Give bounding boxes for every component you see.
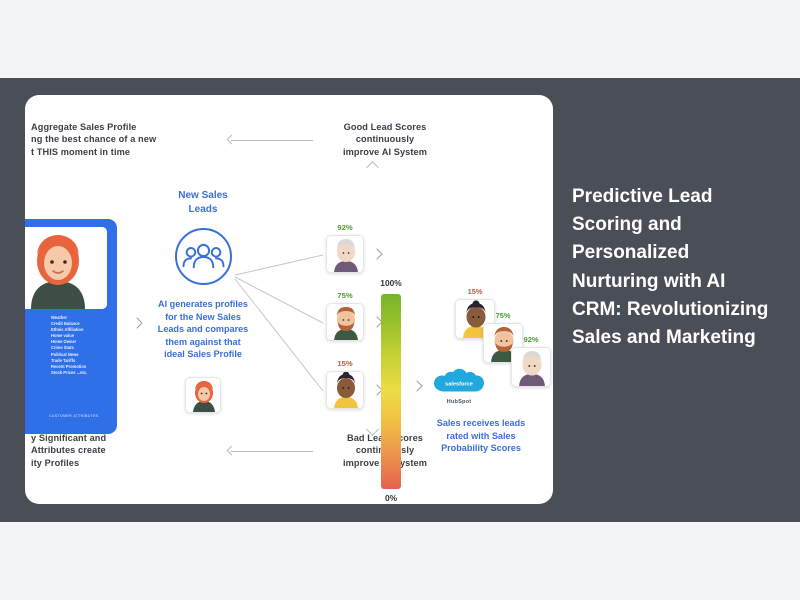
diagram-card: Aggregate Sales Profile ng the best chan… bbox=[25, 95, 553, 504]
new-sales-leads-circle bbox=[175, 228, 232, 285]
crm-score-1: 15% bbox=[458, 287, 492, 296]
caption-bottom-left: y Significant and Attributes create ity … bbox=[31, 432, 231, 469]
lead-connector-lines bbox=[225, 245, 335, 445]
salesforce-cloud-icon: salesforce bbox=[433, 367, 485, 399]
chevron-right-icon-stage3 bbox=[411, 380, 422, 391]
page-root: Aggregate Sales Profile ng the best chan… bbox=[0, 0, 800, 600]
caption-top-left: Aggregate Sales Profile ng the best chan… bbox=[31, 121, 231, 158]
lead-score-3: 15% bbox=[326, 359, 364, 368]
caption-top-right: Returns pro and sales fo Machi bbox=[505, 121, 553, 158]
lead-avatar-1 bbox=[326, 235, 364, 273]
crm-score-2: 75% bbox=[486, 311, 520, 320]
ideal-profile-thumbnail bbox=[185, 377, 221, 413]
lead-avatar-2 bbox=[326, 303, 364, 341]
customer-profile-card: Weather Credit Balance Ethnic Affiliatio… bbox=[25, 219, 117, 434]
persona-avatar bbox=[25, 227, 107, 309]
caret-up-icon bbox=[366, 161, 379, 174]
crm-lead-card-3 bbox=[511, 347, 551, 387]
feedback-arrow-bottom-line bbox=[231, 451, 313, 452]
persona-attributes-left: ders rch te sitive book ond bbox=[25, 369, 47, 412]
diagram-inner: Aggregate Sales Profile ng the best chan… bbox=[25, 95, 553, 504]
persona-card-footer: CUSTOMER ATTRIBUTES bbox=[49, 414, 113, 418]
hubspot-wordmark: HubSpot bbox=[431, 399, 487, 405]
crm-score-3: 92% bbox=[514, 335, 548, 344]
lead-score-2: 75% bbox=[326, 291, 364, 300]
probability-gradient-bar bbox=[381, 294, 401, 489]
chevron-right-icon-lead1 bbox=[371, 248, 382, 259]
caption-top-center: Good Lead Scores continuously improve AI… bbox=[315, 121, 455, 158]
scale-top-label: 100% bbox=[367, 278, 415, 288]
feedback-arrow-top-line bbox=[231, 140, 313, 141]
crm-description: Sales receives leads rated with Sales Pr… bbox=[415, 417, 547, 455]
page-title: Predictive Lead Scoring and Personalized… bbox=[572, 183, 778, 352]
lead-avatar-3 bbox=[326, 371, 364, 409]
lead-score-1: 92% bbox=[326, 223, 364, 232]
new-sales-leads-title: New Sales Leads bbox=[151, 189, 255, 216]
scale-bottom-label: 0% bbox=[367, 493, 415, 503]
salesforce-wordmark: salesforce bbox=[445, 382, 473, 388]
persona-attributes-right: Weather Credit Balance Ethnic Affiliatio… bbox=[51, 315, 113, 376]
